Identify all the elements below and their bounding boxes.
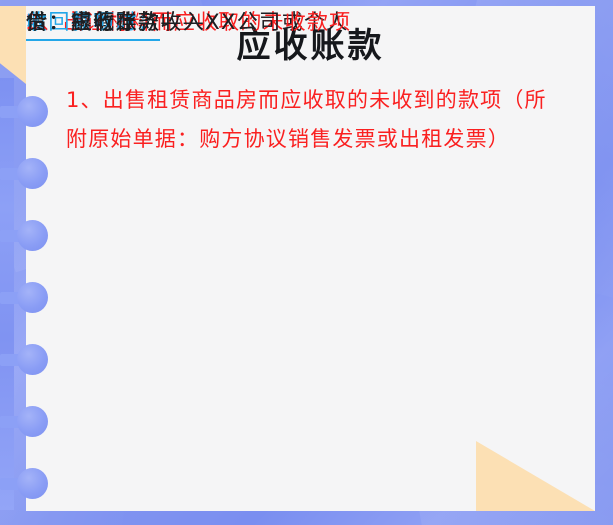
item1-line2: 附原始单据：购方协议销售发票或出租发票）	[66, 123, 510, 153]
page-content: 应收账款 1、出售租赁商品房而应收取的未收到的款项（所 附原始单据：购方协议销售…	[26, 6, 595, 511]
binder-spine	[0, 78, 14, 510]
folded-corner-top-left-icon	[0, 6, 26, 84]
entry3-credit: 贷：应收账款	[26, 6, 160, 36]
slide-canvas: 应收账款 1、出售租赁商品房而应收取的未收到的款项（所 附原始单据：购方协议销售…	[0, 0, 613, 525]
item1-line1: 1、出售租赁商品房而应收取的未收到的款项（所	[66, 84, 547, 114]
